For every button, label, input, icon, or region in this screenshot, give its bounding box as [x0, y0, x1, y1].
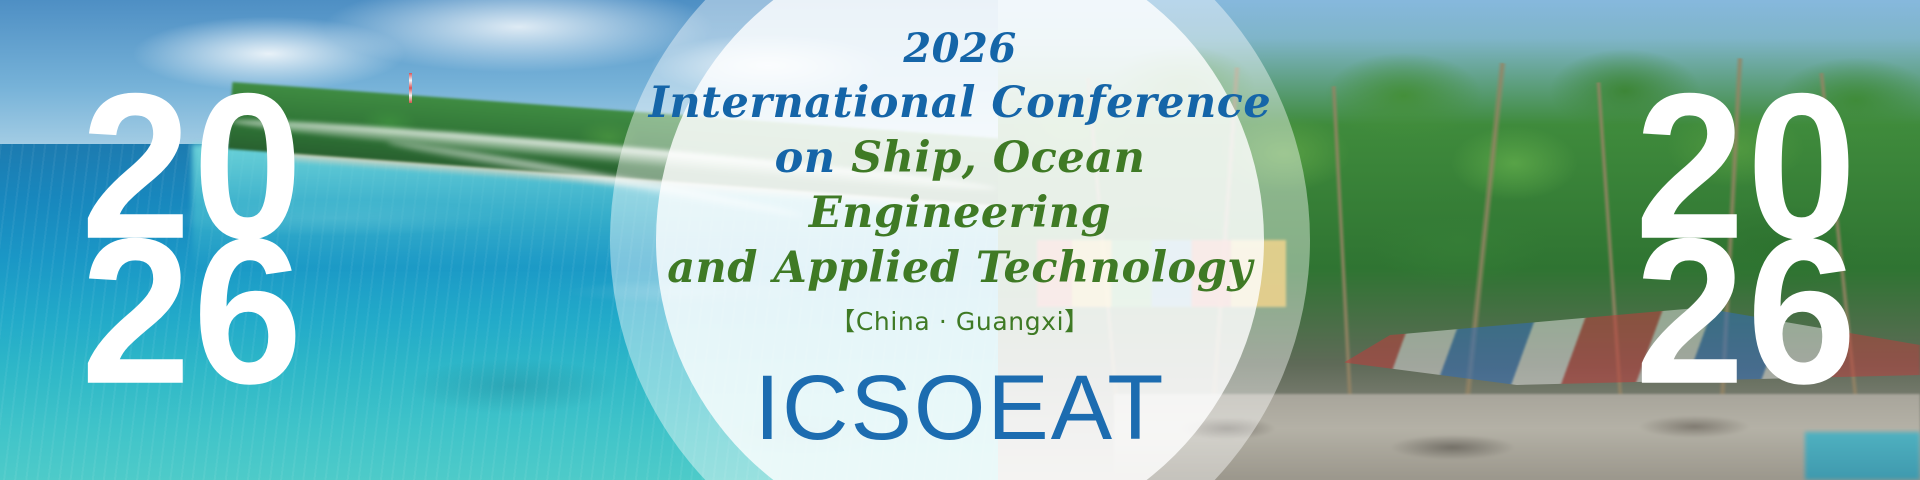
conference-title-block: 2026 International Conference on Ship, O…	[640, 0, 1280, 480]
conference-acronym: ICSOEAT	[754, 362, 1165, 454]
conference-title-line-2-main: Ship, Ocean Engineering	[809, 133, 1145, 238]
conference-title-line-1: International Conference	[649, 76, 1272, 131]
palm-trunk	[1716, 58, 1744, 442]
palm-trunk	[1818, 73, 1863, 437]
palm-trunk	[1331, 86, 1356, 422]
conference-year: 2026	[903, 26, 1016, 72]
conference-title-line-2: on Ship, Ocean Engineering	[640, 131, 1280, 241]
palm-trunk	[1458, 63, 1507, 446]
corner-water	[1805, 432, 1920, 480]
conference-title-line-2-prefix: on	[775, 133, 851, 183]
radio-mast	[409, 73, 412, 103]
conference-banner: 20 26 20 26 2026 International Conferenc…	[0, 0, 1920, 480]
conference-location: 【China · Guangxi】	[830, 302, 1089, 338]
conference-title-line-3: and Applied Technology	[667, 241, 1253, 296]
